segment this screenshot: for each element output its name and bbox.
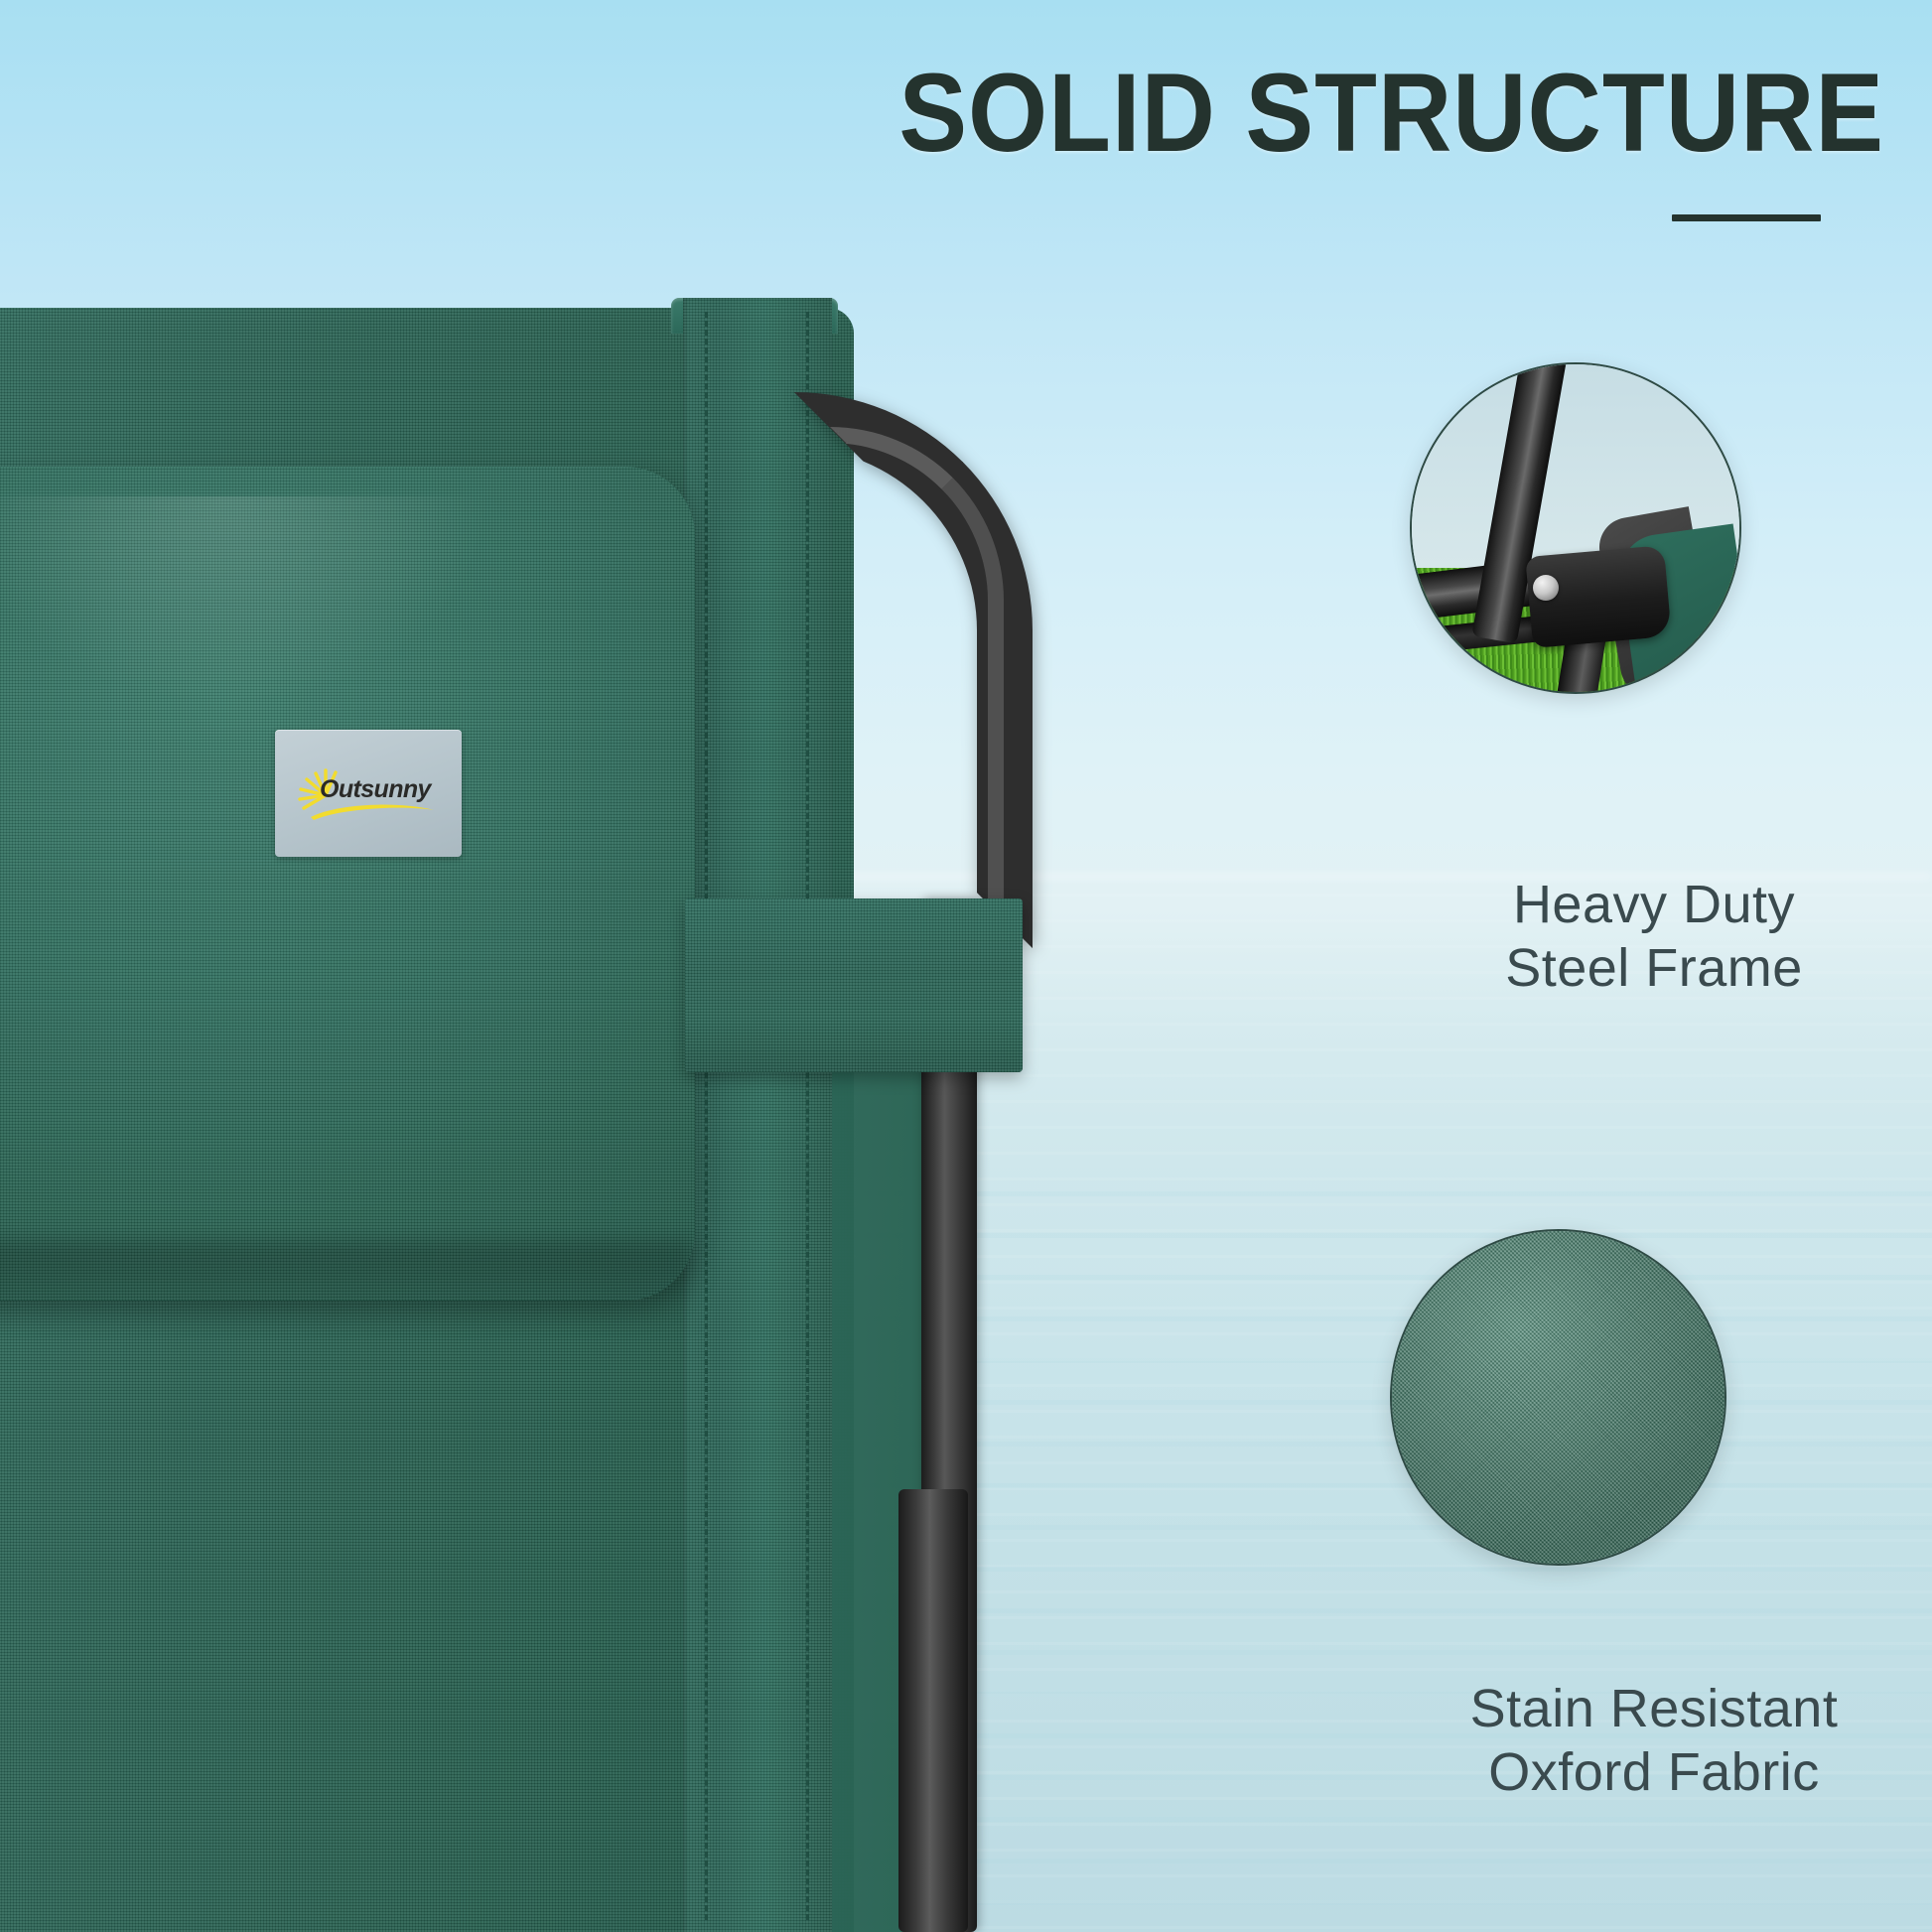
fabric-strap-wrap <box>685 898 1023 1072</box>
title-divider <box>1672 214 1821 221</box>
headrest-pillow <box>0 467 695 1301</box>
sun-swoosh-icon <box>308 799 437 821</box>
brand-badge: Outsunny <box>275 730 462 857</box>
feature-caption-fabric: Stain Resistant Oxford Fabric <box>1376 1678 1932 1804</box>
pillow-drop-shadow <box>0 1241 695 1330</box>
outsunny-logo: Outsunny <box>294 763 443 823</box>
stitch-line-left <box>705 312 708 1920</box>
strap-weave-texture <box>685 898 1023 1072</box>
feature-caption-steel: Heavy Duty Steel Frame <box>1376 874 1932 1000</box>
rivet-icon <box>1533 575 1559 601</box>
product-photo: Outsunny <box>0 0 1172 1932</box>
fabric-swatch-inset <box>1390 1229 1726 1566</box>
marketing-image: SOLID STRUCTURE <box>0 0 1932 1932</box>
steel-vertical-tube-lower <box>898 1489 968 1932</box>
steel-frame-inset-photo <box>1410 362 1741 694</box>
swatch-shading <box>1392 1231 1725 1564</box>
